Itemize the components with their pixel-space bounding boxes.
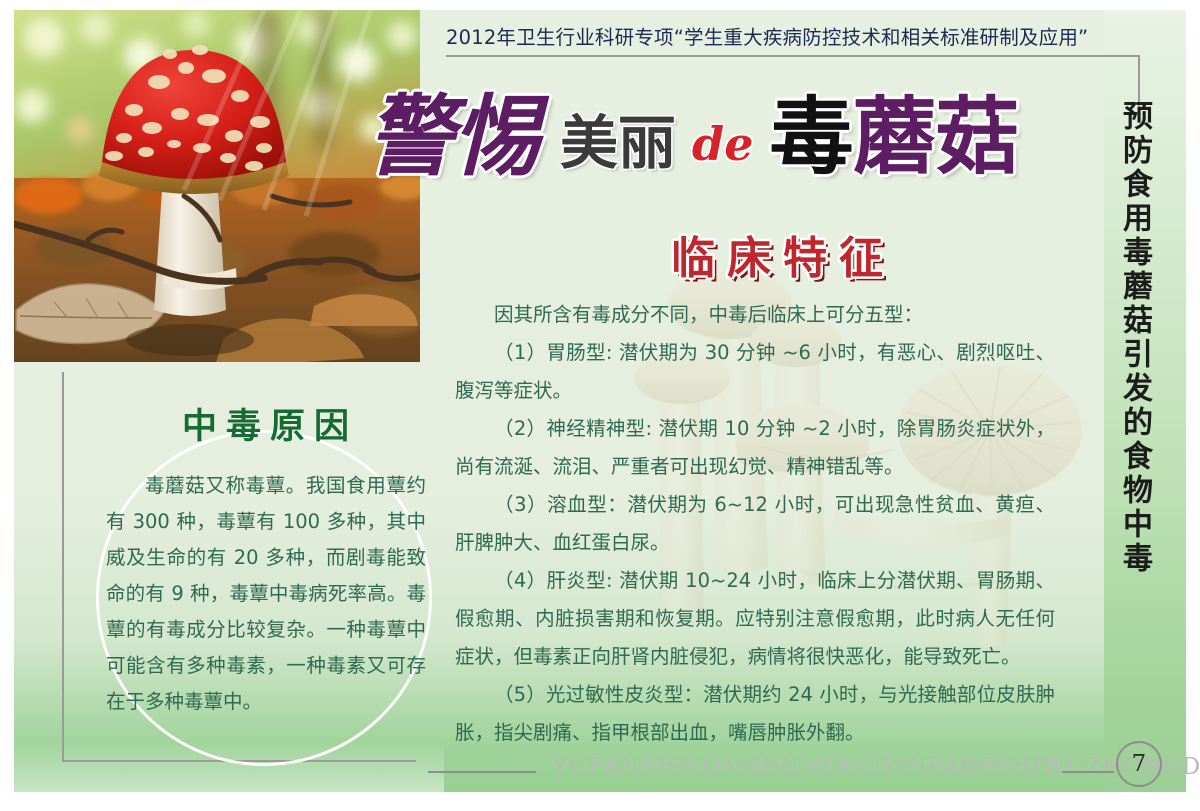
poster-page: 2012年卫生行业科研专项“学生重大疾病防控技术和相关标准研制及应用” 警惕 美… (0, 0, 1200, 811)
footer-rule-left (428, 771, 536, 773)
clinical-item-3: （3）溶血型：潜伏期为 6~12 小时，可出现急性贫血、黄疸、肝脾肿大、血红蛋白… (455, 486, 1055, 562)
clinical-item-5: （5）光过敏性皮炎型：潜伏期约 24 小时，与光接触部位皮肤肿胀，指尖剧痛、指甲… (455, 676, 1055, 752)
page-number-badge: 7 (1116, 741, 1162, 787)
clinical-item-2: （2）神经精神型: 潜伏期 10 分钟 ~2 小时，除胃肠炎症状外，尚有流涎、流… (455, 410, 1055, 486)
footer-rule-right (1062, 771, 1114, 773)
title-part-de: de (692, 121, 753, 167)
banner-rule (446, 55, 1140, 57)
title-part-jingti: 警惕 (366, 93, 538, 181)
project-banner: 2012年卫生行业科研专项“学生重大疾病防控技术和相关标准研制及应用” (446, 18, 1172, 52)
footer-pinyin: YUFANSHIYONGDUMOGUYINFADESHIWUZHONGDU (552, 752, 1072, 782)
clinical-intro: 因其所含有毒成分不同，中毒后临床上可分五型： (455, 296, 1055, 334)
section-heading-clinical: 临床特征 (628, 222, 938, 286)
mushroom-photo (14, 10, 420, 362)
title-part-du: 毒 (769, 95, 852, 179)
section-body-clinical: 因其所含有毒成分不同，中毒后临床上可分五型： （1）胃肠型: 潜伏期为 30 分… (455, 296, 1055, 752)
title-part-mogu: 蘑菇 (852, 95, 1018, 179)
section-heading-cause: 中毒原因 (120, 398, 420, 449)
project-banner-text: 2012年卫生行业科研专项“学生重大疾病防控技术和相关标准研制及应用” (446, 21, 1088, 50)
clinical-item-1: （1）胃肠型: 潜伏期为 30 分钟 ~6 小时，有恶心、剧烈呕吐、腹泻等症状。 (455, 334, 1055, 410)
vertical-caption: 预防食用毒蘑菇引发的食物中毒 (1108, 100, 1150, 580)
page-title: 警惕 美丽 de 毒 蘑菇 (366, 84, 1046, 190)
title-part-meili: 美丽 (560, 114, 676, 172)
section-body-cause: 毒蘑菇又称毒蕈。我国食用蕈约有 300 种，毒蕈有 100 多种，其中威及生命的… (106, 468, 426, 720)
clinical-item-4: （4）肝炎型: 潜伏期 10~24 小时，临床上分潜伏期、胃肠期、假愈期、内脏损… (455, 562, 1055, 676)
